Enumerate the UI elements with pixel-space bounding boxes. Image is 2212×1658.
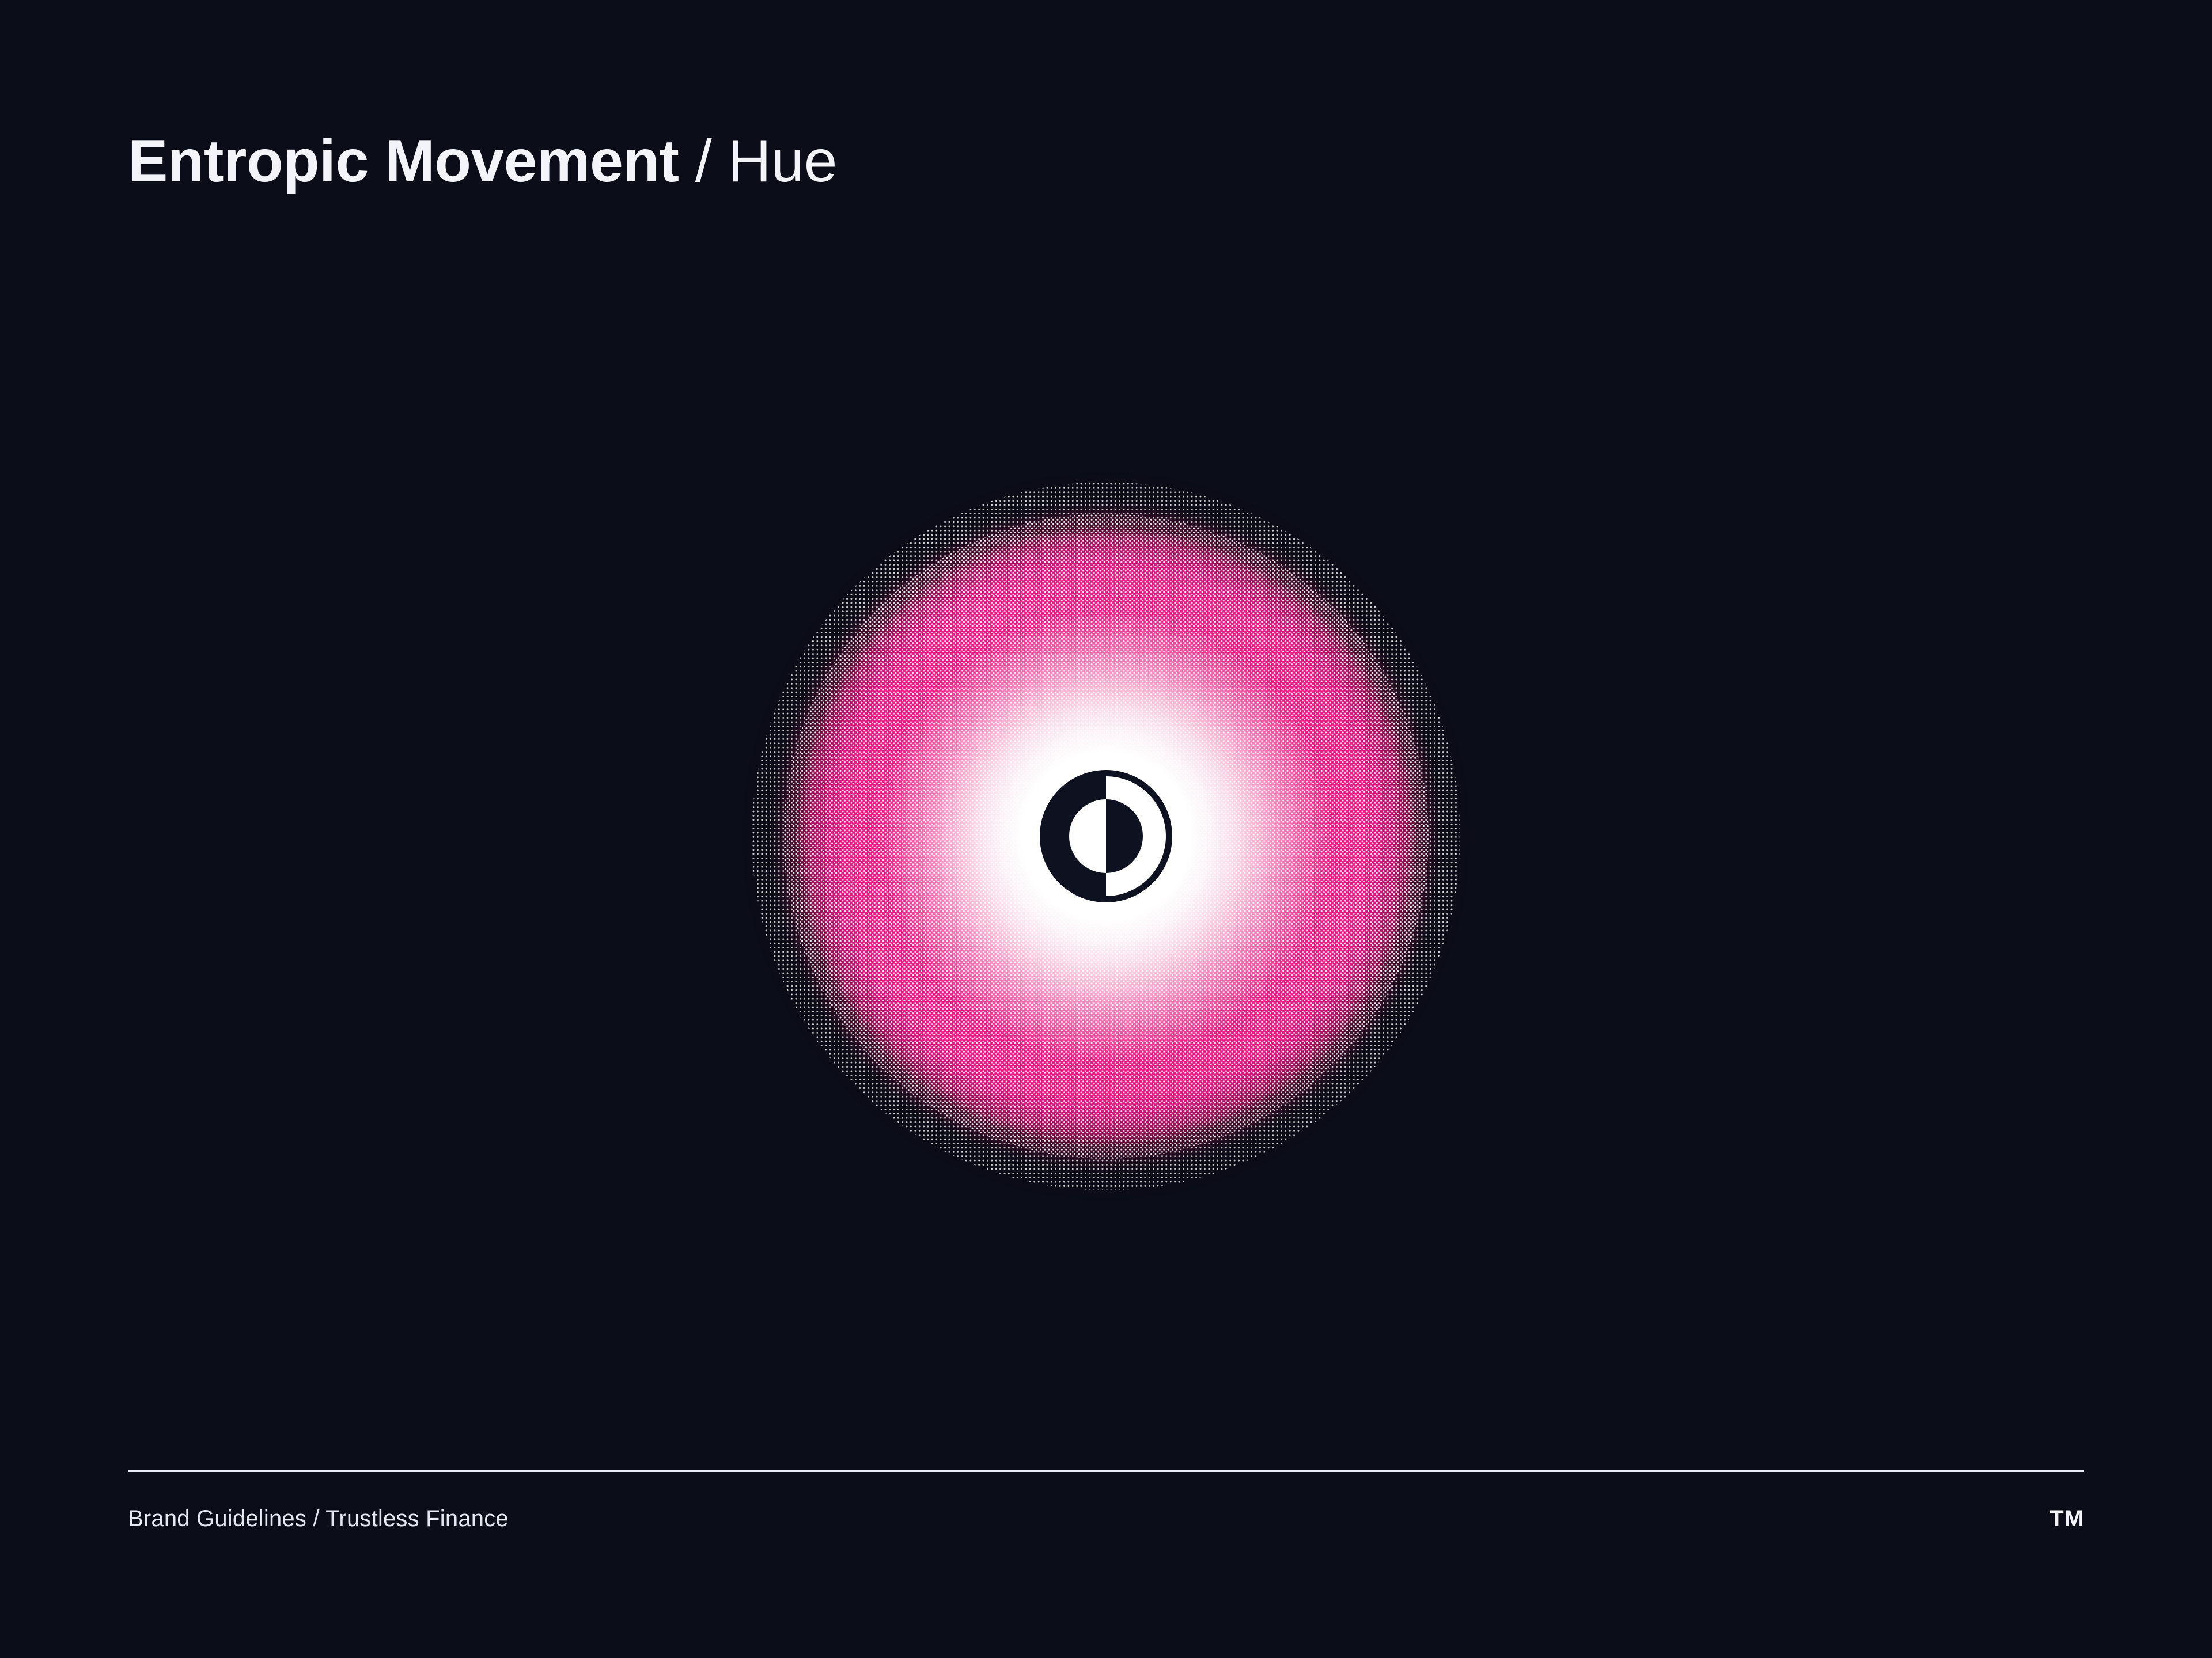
footer-caption: Brand Guidelines / Trustless Finance xyxy=(128,1506,509,1532)
page-title-primary: Entropic Movement xyxy=(128,128,679,195)
page-title-secondary: Hue xyxy=(728,128,837,195)
trademark-label: TM xyxy=(2050,1506,2084,1532)
footer-divider xyxy=(128,1470,2084,1472)
page-title-separator: / xyxy=(679,128,728,195)
page-title-line: Entropic Movement / Hue xyxy=(128,131,837,191)
brand-guideline-slide: Entropic Movement / Hue xyxy=(0,0,2212,1658)
page-title: Entropic Movement / Hue xyxy=(128,131,837,191)
split-circle-logo-icon xyxy=(1038,768,1174,904)
